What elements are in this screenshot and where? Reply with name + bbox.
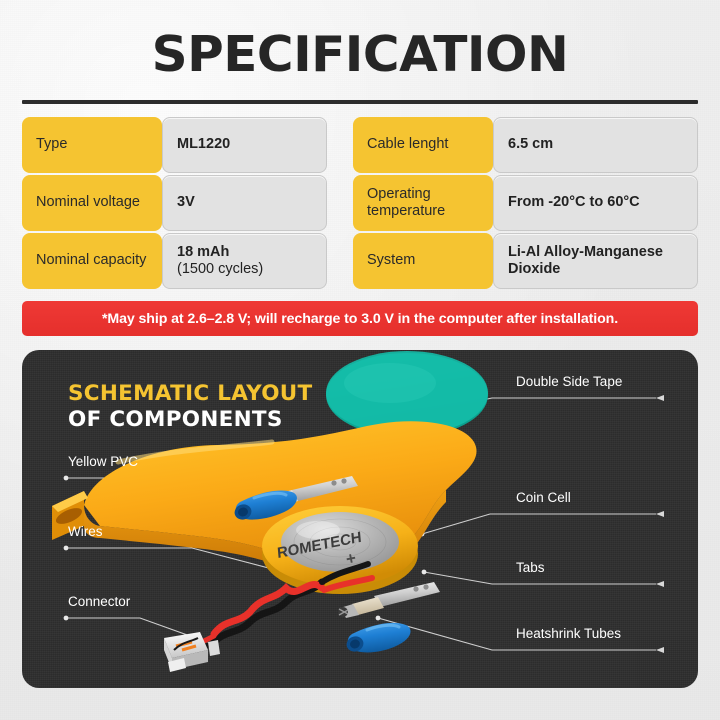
schematic-panel: SCHEMATIC LAYOUT OF COMPONENTS [22, 350, 698, 688]
page-title: SPECIFICATION [0, 26, 720, 83]
spec-label-nominal-capacity: Nominal capacity [22, 233, 162, 289]
callout-label-connector: Connector [68, 594, 130, 609]
spec-value-nominal-capacity-text: 18 mAh [177, 244, 263, 261]
spec-value-nominal-capacity-subtext: (1500 cycles) [177, 261, 263, 278]
spec-value-operating-temperature-text: From -20°C to 60°C [508, 194, 640, 211]
spec-value-cable-length: 6.5 cm [493, 117, 698, 173]
shipping-voltage-notice: *May ship at 2.6–2.8 V; will recharge to… [22, 301, 698, 336]
callout-label-wires: Wires [68, 524, 103, 539]
specification-infographic: SPECIFICATION Type ML1220 Cable lenght 6… [0, 0, 720, 720]
callout-label-yellow-pvc: Yellow PVC [68, 454, 138, 469]
spec-column-gap [327, 117, 355, 173]
shipping-voltage-notice-text: *May ship at 2.6–2.8 V; will recharge to… [102, 311, 618, 327]
heatshrink-tube-lower-art [345, 623, 411, 654]
spec-value-nominal-voltage-text: 3V [177, 194, 195, 211]
spec-value-type: ML1220 [162, 117, 327, 173]
spec-label-nominal-voltage: Nominal voltage [22, 175, 162, 231]
spec-label-type: Type [22, 117, 162, 173]
spec-label-system: System [353, 233, 493, 289]
callout-label-tabs: Tabs [516, 560, 545, 575]
spec-value-cable-length-text: 6.5 cm [508, 136, 553, 153]
spec-column-gap [327, 233, 355, 289]
spec-value-nominal-capacity: 18 mAh (1500 cycles) [162, 233, 327, 289]
callout-label-coin-cell: Coin Cell [516, 490, 571, 505]
spec-value-nominal-voltage: 3V [162, 175, 327, 231]
specification-table: Type ML1220 Cable lenght 6.5 cm Nominal … [22, 117, 698, 289]
callout-label-heatshrink-tubes: Heatshrink Tubes [516, 626, 621, 641]
title-divider [22, 100, 698, 104]
spec-value-system: Li-Al Alloy-Manganese Dioxide [493, 233, 698, 289]
spec-label-cable-length: Cable lenght [353, 117, 493, 173]
spec-value-system-text: Li-Al Alloy-Manganese Dioxide [508, 244, 683, 278]
spec-label-operating-temperature: Operating temperature [353, 175, 493, 231]
spec-value-operating-temperature: From -20°C to 60°C [493, 175, 698, 231]
callout-label-double-side-tape: Double Side Tape [516, 374, 622, 389]
spec-value-type-text: ML1220 [177, 136, 230, 153]
coin-cell-art: ROMETECH + [262, 506, 418, 594]
spec-column-gap [327, 175, 355, 231]
